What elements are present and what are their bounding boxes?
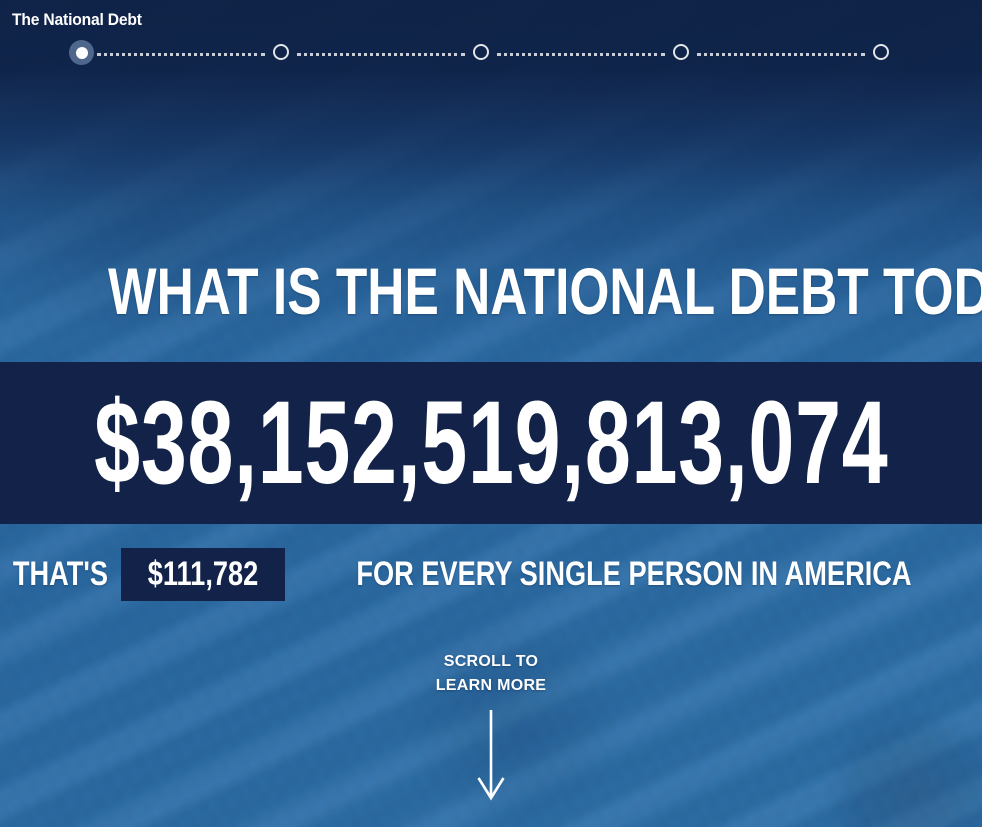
pagination-track-4 <box>697 53 865 56</box>
debt-total-value: $38,152,519,813,074 <box>94 384 888 502</box>
pagination-dot-3[interactable] <box>473 44 489 60</box>
page-title: WHAT IS THE NATIONAL DEBT TODAY? <box>108 256 874 326</box>
pagination-dot-1[interactable] <box>69 40 94 65</box>
debt-counter-band: $38,152,519,813,074 <box>0 362 982 524</box>
scroll-cue-line-2[interactable]: LEARN MORE <box>0 674 982 698</box>
pagination-dot-4[interactable] <box>673 44 689 60</box>
slide-pagination <box>0 40 982 68</box>
page-root: The National Debt WHAT IS THE NATIONAL D… <box>0 0 982 827</box>
pagination-dot-2[interactable] <box>273 44 289 60</box>
pagination-track-3 <box>497 53 665 56</box>
scroll-cue[interactable]: SCROLL TO LEARN MORE <box>0 650 982 807</box>
pagination-dot-5[interactable] <box>873 44 889 60</box>
site-title: The National Debt <box>12 10 142 30</box>
arrow-down-icon[interactable] <box>476 710 506 807</box>
pagination-track-1 <box>97 53 265 56</box>
per-person-amount-value: $111,782 <box>148 554 258 594</box>
per-person-amount-highlight: $111,782 <box>121 548 285 601</box>
scroll-cue-line-1[interactable]: SCROLL TO <box>0 650 982 674</box>
per-person-line: THAT'S $111,782 FOR EVERY SINGLE PERSON … <box>0 546 982 602</box>
per-person-prefix: THAT'S <box>12 554 107 594</box>
pagination-track-2 <box>297 53 465 56</box>
per-person-suffix: FOR EVERY SINGLE PERSON IN AMERICA <box>357 554 912 594</box>
